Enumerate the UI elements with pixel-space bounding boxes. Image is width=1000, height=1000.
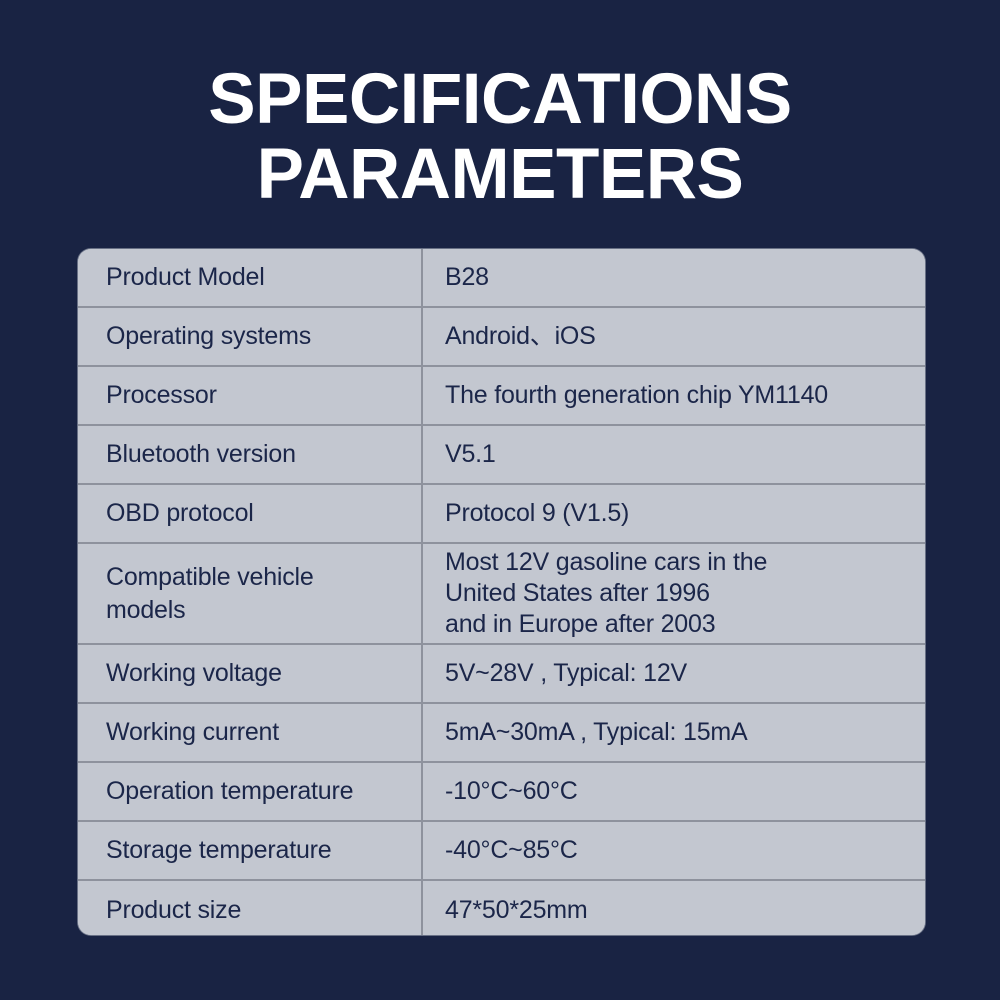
table-row: Product Model B28: [78, 249, 925, 308]
spec-value: Protocol 9 (V1.5): [423, 485, 925, 542]
spec-value: V5.1: [423, 426, 925, 483]
spec-value: 5mA~30mA , Typical: 15mA: [423, 704, 925, 761]
spec-value: -10°C~60°C: [423, 763, 925, 820]
spec-label: Product Model: [78, 249, 423, 306]
table-row: Operation temperature -10°C~60°C: [78, 763, 925, 822]
spec-value: The fourth generation chip YM1140: [423, 367, 925, 424]
table-row: Operating systems Android、iOS: [78, 308, 925, 367]
spec-label: OBD protocol: [78, 485, 423, 542]
page-title-line-2: PARAMETERS: [0, 137, 1000, 212]
table-row: Working current 5mA~30mA , Typical: 15mA: [78, 704, 925, 763]
spec-label: Processor: [78, 367, 423, 424]
spec-value: 47*50*25mm: [423, 881, 925, 935]
table-row: OBD protocol Protocol 9 (V1.5): [78, 485, 925, 544]
table-row: Product size 47*50*25mm: [78, 881, 925, 935]
spec-label: Compatible vehicle models: [78, 544, 423, 643]
spec-label: Operating systems: [78, 308, 423, 365]
spec-label: Storage temperature: [78, 822, 423, 879]
specifications-page: SPECIFICATIONS PARAMETERS Product Model …: [0, 0, 1000, 1000]
table-row: Bluetooth version V5.1: [78, 426, 925, 485]
spec-label: Working voltage: [78, 645, 423, 702]
spec-label: Working current: [78, 704, 423, 761]
table-row: Working voltage 5V~28V , Typical: 12V: [78, 645, 925, 704]
specifications-table: Product Model B28 Operating systems Andr…: [78, 249, 925, 935]
page-title-line-1: SPECIFICATIONS: [0, 62, 1000, 137]
spec-label: Bluetooth version: [78, 426, 423, 483]
spec-value: Android、iOS: [423, 308, 925, 365]
page-title: SPECIFICATIONS PARAMETERS: [0, 62, 1000, 212]
table-row: Storage temperature -40°C~85°C: [78, 822, 925, 881]
spec-value: 5V~28V , Typical: 12V: [423, 645, 925, 702]
spec-label: Product size: [78, 881, 423, 935]
spec-value: Most 12V gasoline cars in the United Sta…: [423, 544, 925, 643]
table-row: Compatible vehicle models Most 12V gasol…: [78, 544, 925, 645]
spec-label: Operation temperature: [78, 763, 423, 820]
spec-value: B28: [423, 249, 925, 306]
table-row: Processor The fourth generation chip YM1…: [78, 367, 925, 426]
spec-value: -40°C~85°C: [423, 822, 925, 879]
